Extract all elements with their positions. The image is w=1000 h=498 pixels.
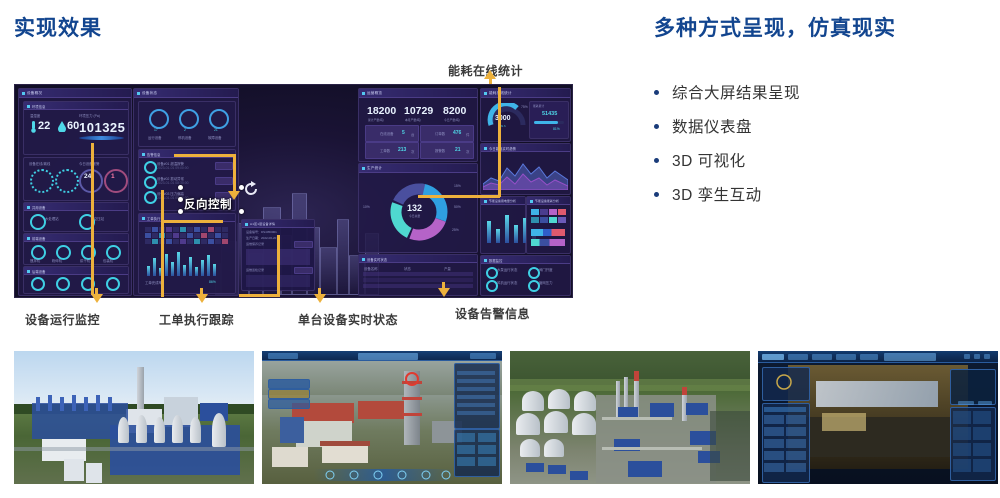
selection-handle-br[interactable] bbox=[239, 209, 244, 214]
bullet-dot-icon bbox=[654, 124, 659, 129]
energy-progress-fill bbox=[534, 121, 558, 124]
pressure-underline bbox=[79, 136, 124, 140]
device-group-card-3: 后端设备 bbox=[23, 266, 129, 294]
list-item: 3D 可视化 bbox=[654, 146, 984, 174]
panel-energy-trend[interactable]: 今日能耗实时趋势 bbox=[480, 143, 571, 195]
donut-legend-2: 50% bbox=[454, 205, 461, 209]
gallery-image-2[interactable] bbox=[262, 351, 502, 484]
route-line-4 bbox=[161, 220, 223, 223]
panel-title: 生产统计 bbox=[367, 166, 382, 171]
kpi-card-3: 工单数 213 次 bbox=[365, 142, 419, 159]
bullet-dot-icon bbox=[654, 158, 659, 163]
kpi-card-1: 在线设备 5 台 bbox=[365, 125, 419, 142]
callout-label-1: 设备运行监控 bbox=[25, 311, 100, 328]
feature-list: 综合大屏结果呈现 数据仪表盘 3D 可视化 3D 孪生互动 bbox=[654, 78, 984, 214]
route-line-2 bbox=[233, 154, 236, 193]
callout-label-4: 设备告警信息 bbox=[455, 305, 530, 322]
panel-power-bar[interactable]: 节能设备用电量分析 bbox=[480, 196, 526, 254]
selection-handle-tl[interactable] bbox=[178, 185, 183, 190]
emblem-icon bbox=[774, 373, 794, 391]
list-title: 数据监控 bbox=[489, 258, 503, 263]
energy-subcard: 能耗累计 51435 81% bbox=[529, 101, 569, 139]
device-group-card-2: 前端设备 搅拌机 粉碎机 烘干机 包装机 bbox=[23, 233, 129, 265]
callout-arrow-2-stem bbox=[200, 288, 203, 296]
online-ring-2 bbox=[55, 169, 79, 193]
kpi-small-3: 213 bbox=[398, 147, 406, 153]
panel-title: 运营概览 bbox=[367, 91, 382, 96]
stacked-bar bbox=[531, 229, 565, 236]
route-line-6 bbox=[239, 294, 279, 297]
energy-value: 51435 bbox=[542, 111, 557, 117]
thermometer-icon bbox=[30, 120, 37, 133]
env-card-title: 环境信息 bbox=[32, 104, 46, 109]
panel-energy-gauge[interactable]: 能耗在线统计 3000 kW·h 75% 能耗累计 51435 81% bbox=[480, 88, 571, 142]
kpi-small-2: 476 bbox=[453, 130, 461, 136]
hotspot-icon[interactable] bbox=[404, 371, 420, 387]
stacked-bar-2 bbox=[531, 239, 565, 246]
callout-label-3: 单台设备实时状态 bbox=[298, 311, 398, 328]
popup-more-1[interactable] bbox=[294, 241, 313, 248]
panel-device-overview[interactable]: 设备概况 环境信息 温湿度 环境压力 (Pa) 22 60 101325 bbox=[18, 88, 132, 296]
donut-legend-1: 15% bbox=[454, 184, 461, 188]
status-count-2: 2 bbox=[184, 128, 186, 132]
bottom-toolbar-icons[interactable] bbox=[322, 469, 452, 481]
panel-device-status[interactable]: 设备状态 17 2 21 运行设备 停机设备 故障设备 告警信息 设备#01 超… bbox=[133, 88, 239, 296]
donut-legend-3: 25% bbox=[452, 228, 459, 232]
status-count-1: 17 bbox=[154, 128, 158, 132]
route-line-7 bbox=[498, 87, 501, 197]
bullet-dot-icon bbox=[654, 90, 659, 95]
heat-title: 节能设备能耗分析 bbox=[535, 199, 559, 203]
route-line-1 bbox=[174, 154, 236, 157]
alarm-action-2[interactable] bbox=[215, 177, 233, 185]
humidity-value: 60 bbox=[67, 120, 79, 132]
kpi-small-1: 5 bbox=[402, 130, 405, 136]
list-item: 数据仪表盘 bbox=[654, 112, 984, 140]
route-line-9 bbox=[91, 143, 94, 295]
panel-monitor-list[interactable]: 数据监控 水泵运行状态 风机运行状态 阀门开度 管网压力 bbox=[480, 255, 571, 296]
online-ring-1 bbox=[30, 169, 54, 193]
gauge-percent: 75% bbox=[521, 105, 528, 109]
popup-more-2[interactable] bbox=[294, 267, 313, 274]
gallery-image-1[interactable] bbox=[14, 351, 254, 484]
list-item: 综合大屏结果呈现 bbox=[654, 78, 984, 106]
alarm-value-2: 1 bbox=[111, 173, 115, 180]
device-online-card: 设备在线/离线 今日设备报警 24 1 bbox=[23, 157, 129, 201]
callout-arrow-3-stem bbox=[318, 288, 321, 296]
refresh-icon[interactable] bbox=[243, 181, 259, 197]
kpi-value-1: 18200 bbox=[367, 105, 396, 117]
callout-arrow-1-stem bbox=[95, 288, 98, 296]
selection-handle-ml[interactable] bbox=[178, 197, 183, 202]
callout-arrow-energy-tip bbox=[484, 70, 496, 79]
bar-title: 节能设备用电量分析 bbox=[489, 199, 516, 203]
status-summary-card: 17 2 21 运行设备 停机设备 故障设备 bbox=[138, 101, 236, 147]
gallery-strip bbox=[14, 351, 998, 484]
env-card-header: 环境信息 bbox=[24, 102, 128, 110]
list-item-label: 3D 孪生互动 bbox=[672, 183, 762, 205]
route-line-5 bbox=[277, 235, 280, 297]
list-item-label: 数据仪表盘 bbox=[672, 115, 752, 137]
humidity-icon bbox=[58, 121, 66, 132]
selection-handle-bl[interactable] bbox=[178, 209, 183, 214]
panel-title: 设备状态 bbox=[142, 91, 157, 96]
alarm-label: 今日设备报警 bbox=[79, 161, 99, 166]
env-card: 环境信息 温湿度 环境压力 (Pa) 22 60 101325 bbox=[23, 101, 129, 155]
selection-handle-tr[interactable] bbox=[239, 185, 244, 190]
callout-arrow-4-stem bbox=[442, 282, 445, 290]
temperature-value: 22 bbox=[38, 120, 50, 132]
device-group-card-1: 共用设备 水处理站 空压站 bbox=[23, 202, 129, 232]
kpi-value-3: 8200 bbox=[443, 105, 466, 117]
alarm-ring-2 bbox=[104, 169, 128, 193]
alarm-action-1[interactable] bbox=[215, 162, 233, 170]
pressure-label: 环境压力 (Pa) bbox=[79, 113, 100, 118]
callout-label-2: 工单执行跟踪 bbox=[159, 311, 234, 328]
callout-label-reverse-control: 反向控制 bbox=[184, 196, 232, 212]
bullet-dot-icon bbox=[654, 192, 659, 197]
kpi-card-4: 报警数 21 次 bbox=[420, 142, 474, 159]
kpi-small-4: 21 bbox=[455, 147, 461, 153]
page-title-left: 实现效果 bbox=[14, 12, 102, 42]
panel-operation-kpi[interactable]: 运营概览 18200 10729 8200 累计产量(吨) 本月产量(吨) 今日… bbox=[358, 88, 478, 162]
panel-energy-heat[interactable]: 节能设备能耗分析 bbox=[526, 196, 571, 254]
panel-title: 设备概况 bbox=[27, 91, 42, 96]
donut-center-value: 132 bbox=[407, 203, 422, 213]
workorder-card[interactable]: 工单执行 bbox=[138, 213, 236, 294]
list-item-label: 3D 可视化 bbox=[672, 149, 746, 171]
gallery-image-4[interactable] bbox=[758, 351, 998, 484]
status-count-3: 21 bbox=[214, 128, 218, 132]
slide-root: 实现效果 多种方式呈现，仿真现实 综合大屏结果呈现 数据仪表盘 3D 可视化 3… bbox=[0, 0, 1000, 498]
gallery-image-3[interactable] bbox=[510, 351, 750, 484]
kpi-card-2: 订单数 476 件 bbox=[420, 125, 474, 142]
dashboard-screenshot[interactable]: 设备概况 环境信息 温湿度 环境压力 (Pa) 22 60 101325 bbox=[14, 84, 573, 298]
energy-percent: 81% bbox=[553, 127, 560, 131]
area-chart bbox=[483, 154, 568, 190]
panel-header: 设备概况 bbox=[19, 89, 131, 98]
panel-realtime-list[interactable]: 设备实时状态 设备名称 状态 产量 bbox=[358, 254, 478, 296]
panel-production-stats[interactable]: 生产统计 132 今日总量 15% 50% 25% 10% bbox=[358, 163, 478, 253]
pressure-value: 101325 bbox=[79, 120, 125, 135]
kpi-value-2: 10729 bbox=[404, 105, 433, 117]
route-line-8 bbox=[418, 195, 500, 198]
energy-progress-track bbox=[534, 121, 564, 124]
list-item-label: 综合大屏结果呈现 bbox=[672, 81, 800, 103]
route-line-3 bbox=[161, 190, 164, 298]
list-item: 3D 孪生互动 bbox=[654, 180, 984, 208]
page-title-right: 多种方式呈现，仿真现实 bbox=[654, 12, 896, 42]
trend-title: 今日能耗实时趋势 bbox=[489, 146, 516, 151]
device-online-label: 设备在线/离线 bbox=[29, 161, 50, 166]
